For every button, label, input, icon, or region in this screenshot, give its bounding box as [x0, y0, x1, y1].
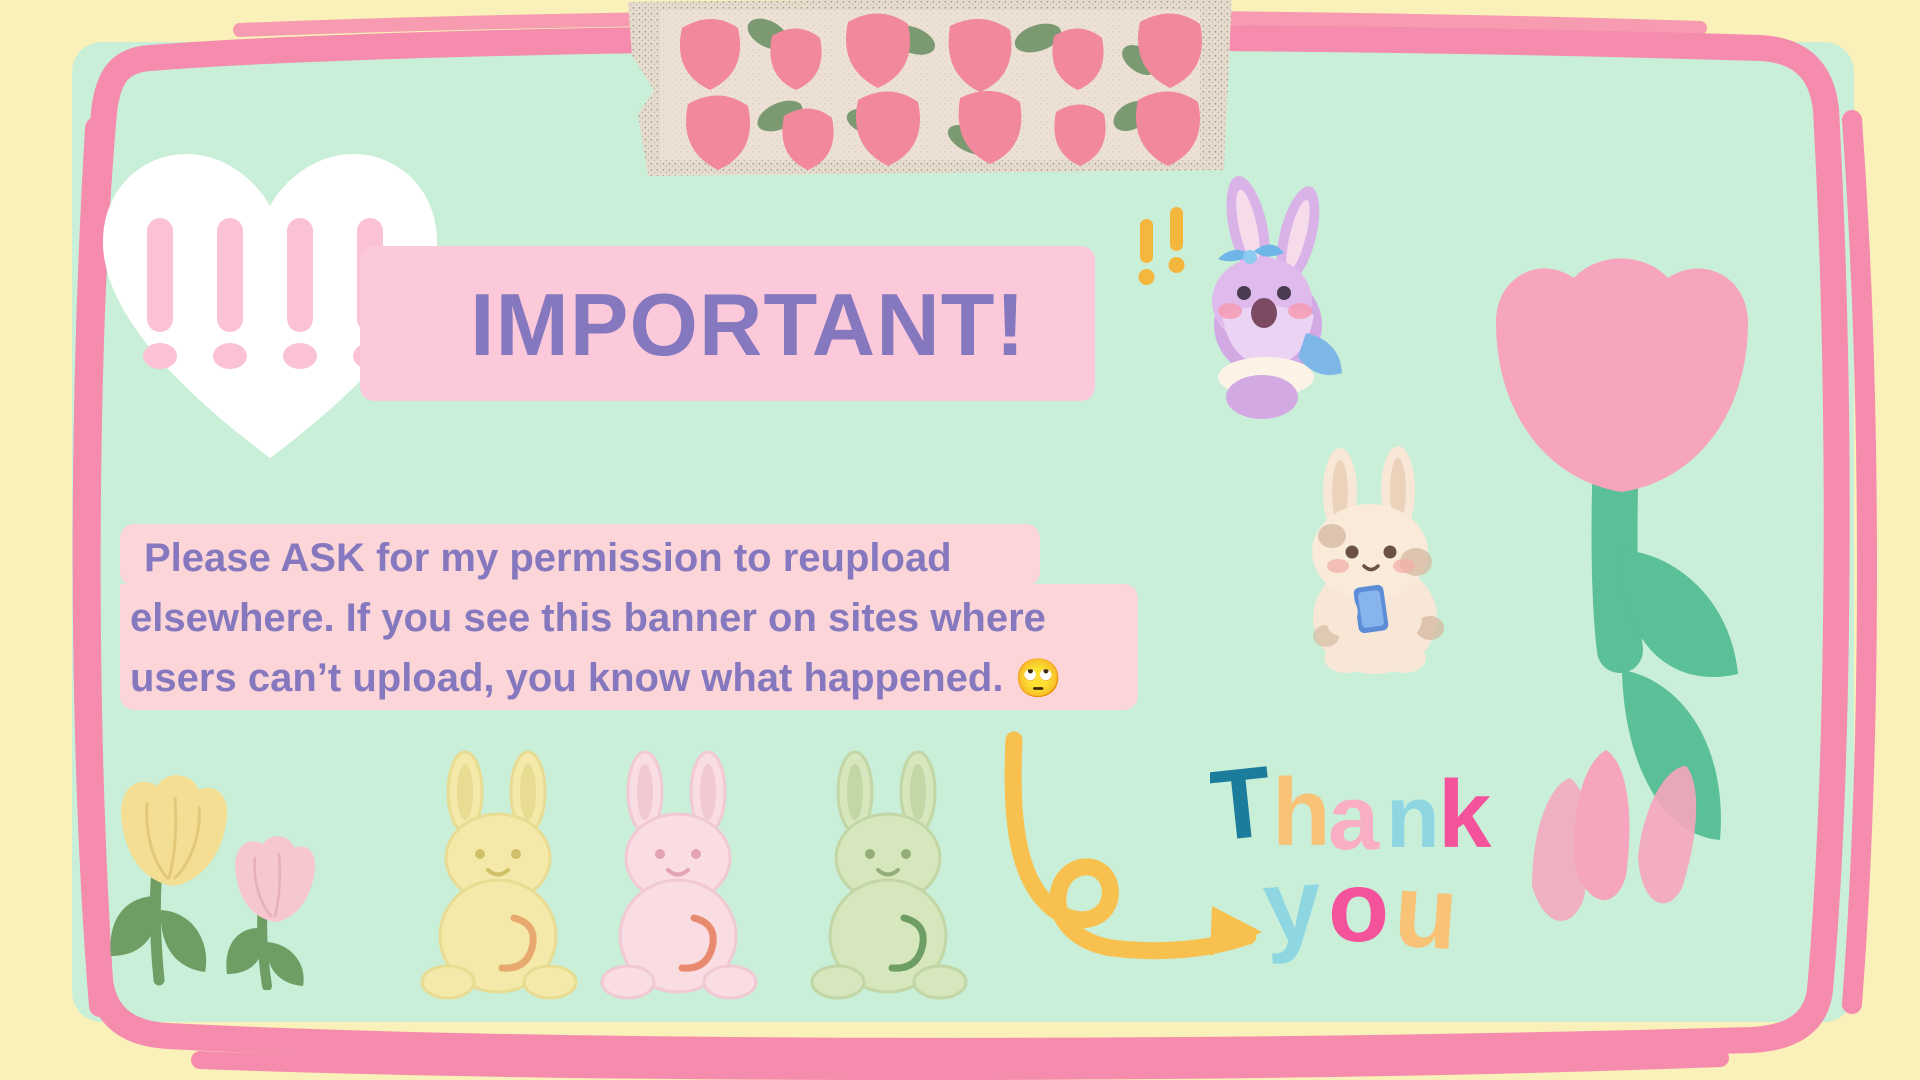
washi-tape-tulip-pattern — [620, 0, 1240, 179]
thankyou-letter-u: u — [1390, 852, 1461, 972]
rolling-eyes-emoji: 🙄 — [1015, 658, 1062, 700]
banner-canvas: IMPORTANT! — [0, 0, 1920, 1080]
gummy-bunny-pink — [590, 750, 770, 1000]
body-line-2: elsewhere. If you see this banner on sit… — [130, 588, 1160, 648]
flying-bunny-sticker — [1130, 165, 1370, 435]
thankyou-letter-k: k — [1438, 761, 1492, 868]
small-tulips-sticker — [95, 760, 345, 990]
page-title: IMPORTANT! — [470, 262, 1090, 387]
thankyou-letter-y: y — [1260, 846, 1326, 966]
thankyou-letter-o: o — [1328, 851, 1389, 963]
banner-body-text: Please ASK for my permission to reupload… — [130, 528, 1160, 709]
thankyou-letter-T: T — [1210, 745, 1277, 863]
body-line-3: users can’t upload, you know what happen… — [130, 648, 1160, 709]
thank-you-lettering: T h a n k y o u — [1210, 745, 1510, 975]
thankyou-letter-n: n — [1386, 767, 1440, 866]
body-line-3-text: users can’t upload, you know what happen… — [130, 656, 1003, 700]
body-line-1: Please ASK for my permission to reupload — [130, 528, 1160, 588]
gummy-bunny-yellow — [410, 750, 590, 1000]
exclamation-marks-small — [1139, 207, 1185, 285]
gummy-bunny-green — [800, 750, 980, 1000]
